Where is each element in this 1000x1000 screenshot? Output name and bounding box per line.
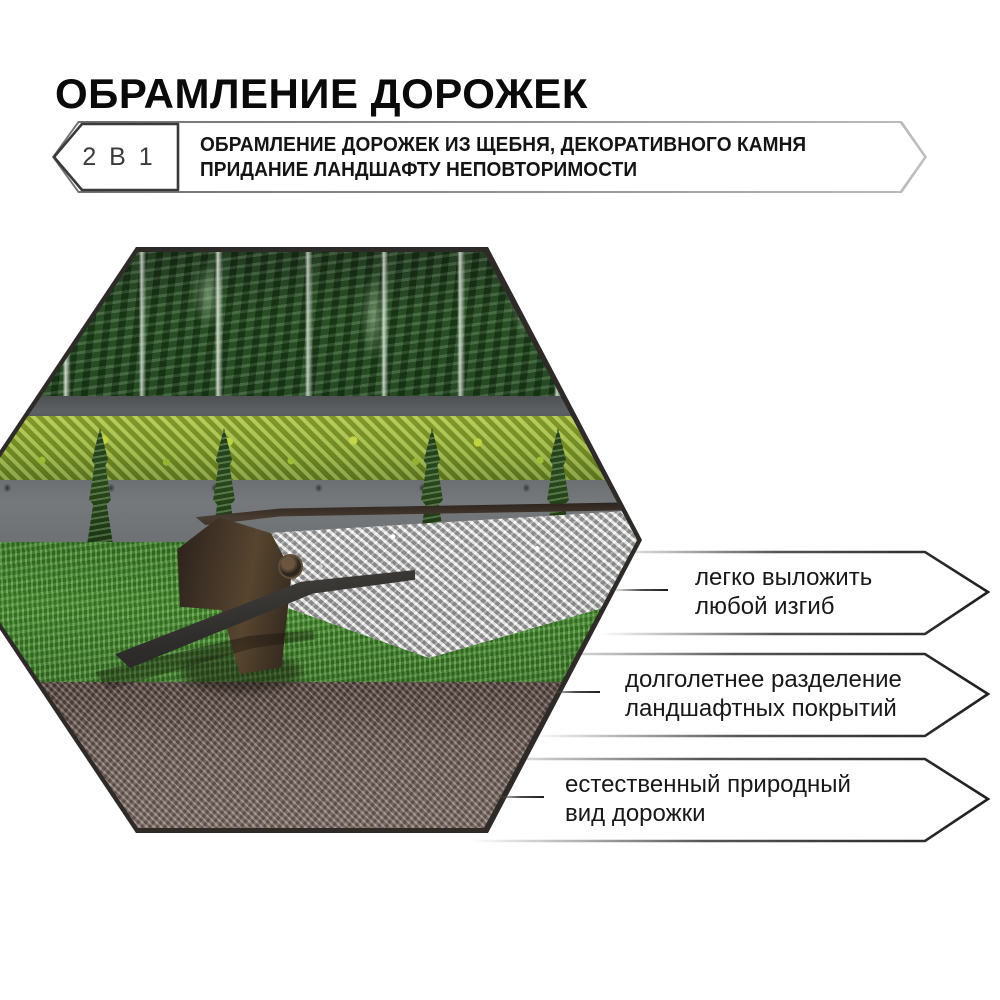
product-photo-hexagon <box>0 245 642 835</box>
callout-3-text: естественный природный вид дорожки <box>565 770 851 828</box>
badge-label: 2 В 1 <box>52 122 180 192</box>
callout-easy-bend: легко выложить любой изгиб <box>600 548 1000 638</box>
banner-text-block: ОБРАМЛЕНИЕ ДОРОЖЕК ИЗ ЩЕБНЯ, ДЕКОРАТИВНО… <box>200 132 900 182</box>
callout-2-line-2: ландшафтных покрытий <box>625 694 902 723</box>
callout-1-line-1: легко выложить <box>695 563 872 592</box>
badge-2-in-1: 2 В 1 <box>52 122 180 192</box>
callout-3-line-2: вид дорожки <box>565 799 851 828</box>
banner-line-2: ПРИДАНИЕ ЛАНДШАФТУ НЕПОВТОРИМОСТИ <box>200 157 851 182</box>
callout-natural-look: естественный природный вид дорожки <box>470 755 1000 845</box>
callout-2-line-1: долголетнее разделение <box>625 665 902 694</box>
callout-1-line-2: любой изгиб <box>695 592 872 621</box>
scene-birch-forest <box>0 252 637 396</box>
subtitle-banner: 2 В 1 ОБРАМЛЕНИЕ ДОРОЖЕК ИЗ ЩЕБНЯ, ДЕКОР… <box>52 120 928 194</box>
callout-3-line-1: естественный природный <box>565 770 851 799</box>
callout-2-text: долголетнее разделение ландшафтных покры… <box>625 665 902 723</box>
callout-1-text: легко выложить любой изгиб <box>695 563 872 621</box>
callout-long-lasting-separation: долголетнее разделение ландшафтных покры… <box>530 650 1000 740</box>
banner-line-1: ОБРАМЛЕНИЕ ДОРОЖЕК ИЗ ЩЕБНЯ, ДЕКОРАТИВНО… <box>200 132 851 157</box>
scene-edging-tube-end <box>278 554 303 579</box>
page-title: ОБРАМЛЕНИЕ ДОРОЖЕК <box>55 72 588 116</box>
